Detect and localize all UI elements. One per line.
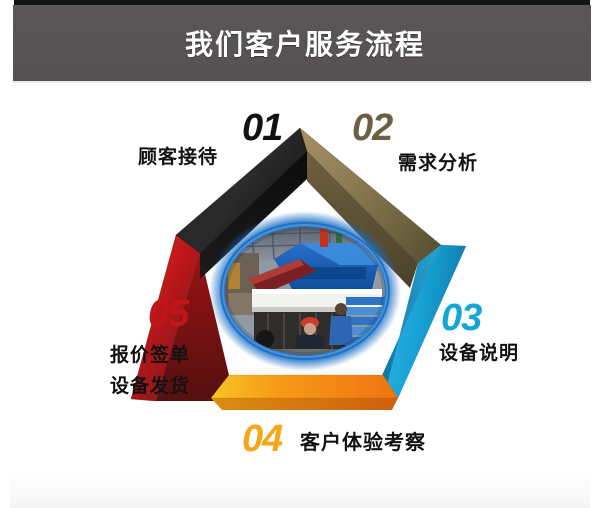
stage-footer	[10, 468, 590, 508]
step-03-number: 03	[441, 299, 481, 337]
step-05-number: 05	[148, 295, 188, 333]
page-title: 我们客户服务流程	[13, 5, 591, 81]
step-04-number: 04	[242, 420, 282, 458]
step-05-label-line1: 报价签单	[110, 345, 190, 366]
step-05-label-line2: 设备发货	[110, 374, 190, 399]
pentagon-segment-04[interactable]	[211, 375, 398, 410]
step-04-label: 客户体验考察	[300, 430, 426, 456]
diagram-stage: 01 顾客接待 02 需求分析 03 设备说明 04 客户体验考察 05 报价签…	[0, 83, 600, 508]
step-03-label: 设备说明	[439, 341, 519, 366]
step-02-number: 02	[352, 109, 392, 147]
center-photo	[209, 211, 401, 371]
step-01-label: 顾客接待	[138, 145, 218, 170]
step-05-label: 报价签单 设备发货	[110, 343, 190, 399]
step-01-number: 01	[242, 109, 282, 147]
header-bar: 我们客户服务流程	[13, 5, 591, 81]
page-root: 我们客户服务流程	[0, 0, 600, 508]
step-02-label: 需求分析	[398, 151, 478, 176]
top-strip-right-cap	[590, 0, 600, 6]
top-strip-left-cap	[0, 0, 14, 6]
